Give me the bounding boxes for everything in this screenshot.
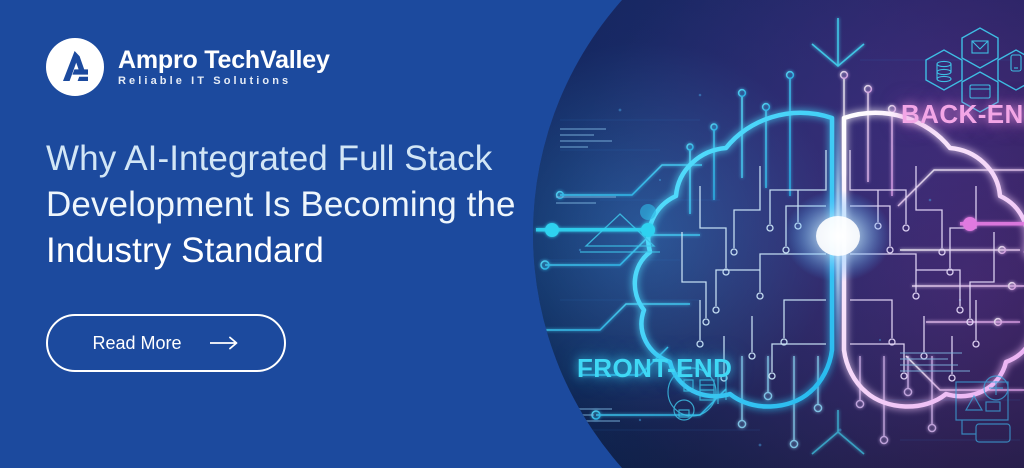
logo-badge [46,38,104,96]
label-back-end: BACK-END [901,99,1024,130]
headline-line-2: Development Is Becoming the [46,182,566,228]
brand-tagline: Reliable IT Solutions [118,76,330,88]
brand-name: Ampro TechValley [118,47,330,73]
page-title: Why AI-Integrated Full Stack Development… [46,136,566,274]
label-front-end: FRONT-END [577,353,732,384]
read-more-button[interactable]: Read More [46,314,286,372]
headline-line-3: Industry Standard [46,228,566,274]
read-more-label: Read More [92,333,181,354]
device-glyph [956,376,1010,442]
brand-logo[interactable]: Ampro TechValley Reliable IT Solutions [46,38,330,96]
ampro-a-monogram-icon [55,47,95,87]
hero-content: Ampro TechValley Reliable IT Solutions W… [0,0,560,468]
brand-text: Ampro TechValley Reliable IT Solutions [118,47,330,88]
headline-line-1: Why AI-Integrated Full Stack [46,136,566,182]
arrow-right-icon [210,336,240,350]
hero-banner: FRONT-END BACK-END Ampro TechValley Reli… [0,0,1024,468]
